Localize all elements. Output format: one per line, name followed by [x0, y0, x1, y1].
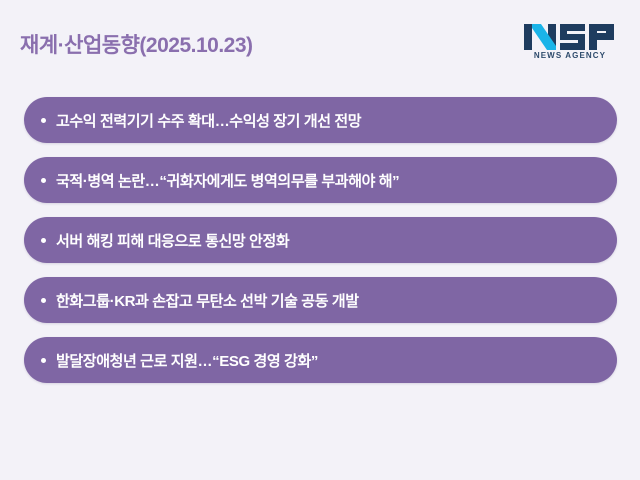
list-item[interactable]: 국적·병역 논란…“귀화자에게도 병역의무를 부과해야 해” — [24, 157, 617, 203]
bullet-icon — [41, 178, 46, 183]
headline-text: 한화그룹·KR과 손잡고 무탄소 선박 기술 공동 개발 — [56, 290, 359, 311]
bullet-icon — [41, 118, 46, 123]
headline-text: 국적·병역 논란…“귀화자에게도 병역의무를 부과해야 해” — [56, 170, 399, 191]
bullet-icon — [41, 238, 46, 243]
bullet-icon — [41, 298, 46, 303]
header-bar: 재계·산업동향(2025.10.23) NEWS AGENCY — [0, 0, 640, 90]
nsp-logo: NEWS AGENCY — [522, 22, 618, 66]
bullet-icon — [41, 358, 46, 363]
page-title: 재계·산업동향(2025.10.23) — [20, 29, 253, 59]
headline-text: 발달장애청년 근로 지원…“ESG 경영 강화” — [56, 350, 318, 371]
list-item[interactable]: 한화그룹·KR과 손잡고 무탄소 선박 기술 공동 개발 — [24, 277, 617, 323]
nsp-wordmark-icon — [522, 22, 618, 52]
list-item[interactable]: 고수익 전력기기 수주 확대…수익성 장기 개선 전망 — [24, 97, 617, 143]
headline-text: 고수익 전력기기 수주 확대…수익성 장기 개선 전망 — [56, 110, 361, 131]
list-item[interactable]: 발달장애청년 근로 지원…“ESG 경영 강화” — [24, 337, 617, 383]
list-item[interactable]: 서버 해킹 피해 대응으로 통신망 안정화 — [24, 217, 617, 263]
headline-list: 고수익 전력기기 수주 확대…수익성 장기 개선 전망 국적·병역 논란…“귀화… — [24, 97, 617, 383]
logo-tagline: NEWS AGENCY — [522, 51, 618, 60]
headline-text: 서버 해킹 피해 대응으로 통신망 안정화 — [56, 230, 289, 251]
